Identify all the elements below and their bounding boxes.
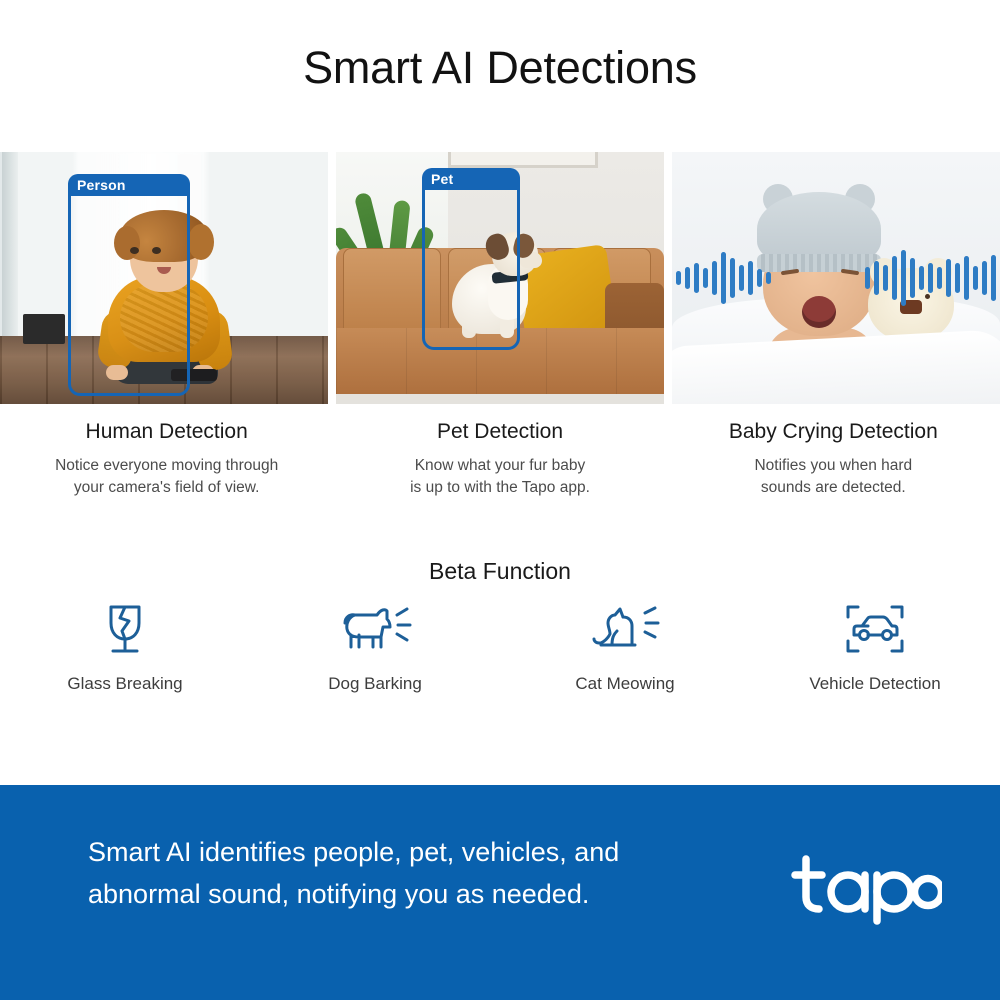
- beta-function-list: Glass Breaking Dog Barking Cat Meowing: [0, 598, 1000, 694]
- person-detection-label: Person: [68, 174, 190, 196]
- tapo-logo: [790, 847, 942, 930]
- waveform-bar: [865, 267, 870, 289]
- waveform-bar: [928, 263, 933, 293]
- beta-item-label: Dog Barking: [328, 674, 422, 694]
- baby-crying-detection-image: [672, 152, 1000, 404]
- beta-item-cat-meowing: Cat Meowing: [500, 598, 750, 694]
- waveform-bar: [991, 255, 996, 301]
- marketing-page: Smart AI Detections: [0, 0, 1000, 1000]
- floor-object: [23, 314, 65, 344]
- caption-title: Human Detection: [26, 420, 307, 444]
- wall-picture-frame: [448, 152, 598, 168]
- caption-desc-line: is up to with the Tapo app.: [359, 477, 640, 499]
- feature-image-strip: Person: [0, 152, 1000, 404]
- waveform-bar: [721, 252, 726, 304]
- person-detection-box: Person: [68, 174, 190, 396]
- waveform-bar: [703, 268, 708, 288]
- waveform-bar: [757, 269, 762, 287]
- feature-captions: Human Detection Notice everyone moving t…: [0, 420, 1000, 500]
- caption-desc-line: Notifies you when hard: [693, 455, 974, 477]
- footer-banner: Smart AI identifies people, pet, vehicle…: [0, 785, 1000, 1000]
- banner-line-2: abnormal sound, notifying you as needed.: [88, 874, 619, 916]
- caption-pet-detection: Pet Detection Know what your fur baby is…: [333, 420, 666, 500]
- caption-desc-line: sounds are detected.: [693, 477, 974, 499]
- beta-item-glass-breaking: Glass Breaking: [0, 598, 250, 694]
- waveform-bar: [955, 263, 960, 293]
- broken-glass-icon: [99, 598, 151, 660]
- waveform-bar: [883, 265, 888, 291]
- pet-detection-label: Pet: [422, 168, 520, 190]
- caption-desc-line: your camera's field of view.: [26, 477, 307, 499]
- waveform-bar: [964, 256, 969, 300]
- waveform-bar: [982, 261, 987, 295]
- beta-item-label: Glass Breaking: [67, 674, 182, 694]
- beta-item-label: Cat Meowing: [575, 674, 674, 694]
- door-frame: [2, 152, 18, 349]
- waveform-bar: [694, 263, 699, 293]
- waveform-bar: [937, 267, 942, 289]
- waveform-bar: [685, 267, 690, 289]
- waveform-bar: [676, 271, 681, 285]
- caption-title: Pet Detection: [359, 420, 640, 444]
- caption-desc-line: Notice everyone moving through: [26, 455, 307, 477]
- cat-meowing-icon: [589, 598, 661, 660]
- waveform-bar: [892, 256, 897, 300]
- waveform-bar: [919, 266, 924, 290]
- waveform-bar: [730, 258, 735, 298]
- pet-detection-box: Pet: [422, 168, 520, 350]
- vehicle-detection-icon: [844, 598, 906, 660]
- page-title: Smart AI Detections: [0, 42, 1000, 94]
- human-detection-image: Person: [0, 152, 328, 404]
- caption-human-detection: Human Detection Notice everyone moving t…: [0, 420, 333, 500]
- waveform-bar: [874, 261, 879, 295]
- waveform-bar: [712, 261, 717, 295]
- waveform-bar: [739, 265, 744, 291]
- caption-baby-crying-detection: Baby Crying Detection Notifies you when …: [667, 420, 1000, 500]
- banner-message: Smart AI identifies people, pet, vehicle…: [88, 832, 619, 916]
- beta-item-dog-barking: Dog Barking: [250, 598, 500, 694]
- dog-barking-icon: [337, 598, 413, 660]
- waveform-bar: [766, 272, 771, 284]
- waveform-bar: [910, 258, 915, 298]
- beta-item-label: Vehicle Detection: [809, 674, 940, 694]
- waveform-bar: [901, 250, 906, 306]
- pet-detection-image: Pet: [336, 152, 664, 404]
- audio-waveform: [672, 246, 1000, 310]
- waveform-bar: [973, 266, 978, 290]
- beta-item-vehicle-detection: Vehicle Detection: [750, 598, 1000, 694]
- banner-line-1: Smart AI identifies people, pet, vehicle…: [88, 832, 619, 874]
- caption-desc-line: Know what your fur baby: [359, 455, 640, 477]
- waveform-bar: [748, 261, 753, 295]
- waveform-bar: [946, 259, 951, 297]
- beta-function-heading: Beta Function: [0, 558, 1000, 585]
- caption-title: Baby Crying Detection: [693, 420, 974, 444]
